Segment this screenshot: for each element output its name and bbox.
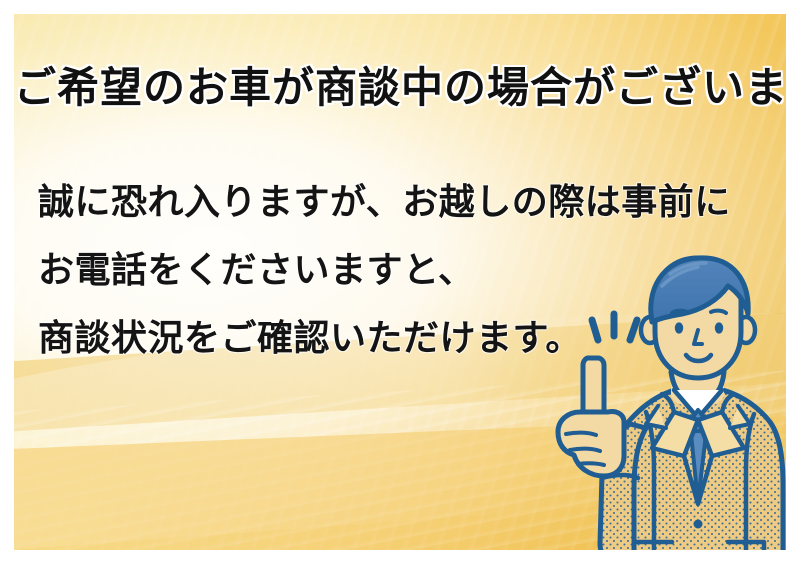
jacket-button bbox=[694, 520, 703, 529]
poster-canvas: ご希望のお車が商談中の場合がございます 誠に恐れ入りますが、お越しの際は事前に … bbox=[14, 14, 786, 550]
body-line-3: 商談状況をご確認いただけます。 bbox=[38, 305, 678, 373]
pointing-hand bbox=[558, 358, 624, 476]
suit-jacket bbox=[604, 388, 783, 550]
background-swoosh-stripes bbox=[14, 362, 786, 550]
right-eye bbox=[715, 322, 723, 333]
necktie bbox=[688, 410, 709, 502]
body-line-2: お電話をくださいますと、 bbox=[38, 237, 678, 305]
background-swoosh-lower bbox=[14, 414, 786, 550]
poster-headline: ご希望のお車が商談中の場合がございます bbox=[14, 54, 786, 115]
poster-body-text: 誠に恐れ入りますが、お越しの際は事前に お電話をくださいますと、 商談状況をご確… bbox=[38, 169, 678, 373]
raised-arm bbox=[600, 424, 646, 550]
body-line-1: 誠に恐れ入りますが、お越しの際は事前に bbox=[38, 169, 678, 237]
poster-card: ご希望のお車が商談中の場合がございます 誠に恐れ入りますが、お越しの際は事前に … bbox=[0, 0, 800, 565]
